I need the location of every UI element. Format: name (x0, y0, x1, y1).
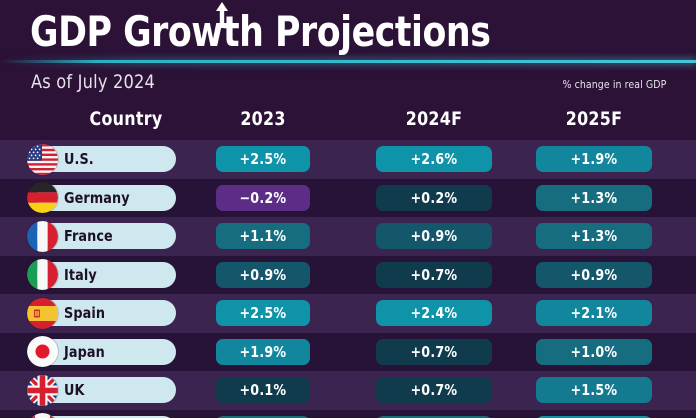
value-pill-2023: +1.9% (216, 339, 310, 365)
country-pill: Japan (36, 339, 176, 365)
subtitle: As of July 2024 (31, 71, 155, 93)
country-name: Japan (64, 343, 105, 361)
value-text: +0.7% (411, 266, 458, 284)
country-pill: Italy (36, 262, 176, 288)
table-row: Canada+1.2%+1.3%+2.4% (0, 410, 696, 418)
value-pill-2023: +2.5% (216, 146, 310, 172)
page-title: GDP Growth Projections (30, 7, 490, 57)
value-pill-2023: +1.1% (216, 223, 310, 249)
flag-gb-icon (27, 375, 58, 406)
value-text: +1.3% (571, 227, 618, 245)
country-pill: Spain (36, 300, 176, 326)
value-text: +0.1% (240, 381, 287, 399)
value-pill-2025: +1.3% (536, 185, 652, 211)
value-pill-2023: −0.2% (216, 185, 310, 211)
value-text: +0.7% (411, 381, 458, 399)
value-pill-2025: +1.3% (536, 223, 652, 249)
value-text: −0.2% (240, 189, 287, 207)
value-pill-2024: +0.7% (376, 377, 492, 403)
country-name: UK (64, 381, 85, 399)
country-pill: UK (36, 377, 176, 403)
value-pill-2024: +0.9% (376, 223, 492, 249)
column-header-country: Country (42, 108, 209, 130)
value-text: +0.7% (411, 343, 458, 361)
value-pill-2024: +2.4% (376, 300, 492, 326)
table-row: Japan+1.9%+0.7%+1.0% (0, 333, 696, 372)
value-pill-2024: +2.6% (376, 146, 492, 172)
country-name: U.S. (64, 150, 94, 168)
column-header-2024f: 2024F (380, 108, 488, 130)
infographic-root: GDP Growth Projections As of July 2024 %… (0, 0, 696, 418)
flag-us-icon (27, 144, 58, 175)
value-text: +1.9% (571, 150, 618, 168)
value-pill-2023: +2.5% (216, 300, 310, 326)
flag-es-icon (27, 298, 58, 329)
value-text: +1.0% (571, 343, 618, 361)
column-header-2025f: 2025F (540, 108, 648, 130)
table-body: U.S.+2.5%+2.6%+1.9% Germany−0.2%+0.2%+1.… (0, 140, 696, 418)
country-pill: France (36, 223, 176, 249)
table-row: Spain+2.5%+2.4%+2.1% (0, 294, 696, 333)
table-row: UK+0.1%+0.7%+1.5% (0, 371, 696, 410)
value-text: +2.6% (411, 150, 458, 168)
value-pill-2025: +0.9% (536, 262, 652, 288)
country-name: Italy (64, 266, 97, 284)
value-text: +0.9% (240, 266, 287, 284)
flag-it-icon (27, 259, 58, 290)
column-header-2023: 2023 (219, 108, 306, 130)
value-text: +2.1% (571, 304, 618, 322)
value-pill-2024: +0.7% (376, 262, 492, 288)
header: GDP Growth Projections As of July 2024 %… (0, 0, 696, 105)
value-text: +0.9% (411, 227, 458, 245)
country-name: Spain (64, 304, 105, 322)
value-text: +2.5% (240, 150, 287, 168)
country-pill: U.S. (36, 146, 176, 172)
value-text: +0.9% (571, 266, 618, 284)
value-text: +1.5% (571, 381, 618, 399)
value-pill-2025: +1.5% (536, 377, 652, 403)
flag-ca-icon (27, 413, 58, 418)
column-headers: Country 2023 2024F 2025F (0, 108, 696, 140)
value-pill-2025: +1.0% (536, 339, 652, 365)
unit-note: % change in real GDP (562, 78, 666, 91)
value-pill-2025: +1.9% (536, 146, 652, 172)
table-row: Italy+0.9%+0.7%+0.9% (0, 256, 696, 295)
value-pill-2023: +0.1% (216, 377, 310, 403)
value-text: +1.1% (240, 227, 287, 245)
flag-de-icon (27, 182, 58, 213)
value-text: +2.4% (411, 304, 458, 322)
value-text: +2.5% (240, 304, 287, 322)
country-name: France (64, 227, 113, 245)
value-pill-2024: +0.7% (376, 339, 492, 365)
flag-jp-icon (27, 336, 58, 367)
value-text: +0.2% (411, 189, 458, 207)
value-pill-2025: +2.1% (536, 300, 652, 326)
table-row: U.S.+2.5%+2.6%+1.9% (0, 140, 696, 179)
country-pill: Germany (36, 185, 176, 211)
value-pill-2023: +0.9% (216, 262, 310, 288)
table-row: Germany−0.2%+0.2%+1.3% (0, 179, 696, 218)
value-text: +1.9% (240, 343, 287, 361)
value-text: +1.3% (571, 189, 618, 207)
value-pill-2024: +0.2% (376, 185, 492, 211)
flag-fr-icon (27, 221, 58, 252)
table-row: France+1.1%+0.9%+1.3% (0, 217, 696, 256)
divider (0, 60, 696, 63)
country-name: Germany (64, 189, 130, 207)
